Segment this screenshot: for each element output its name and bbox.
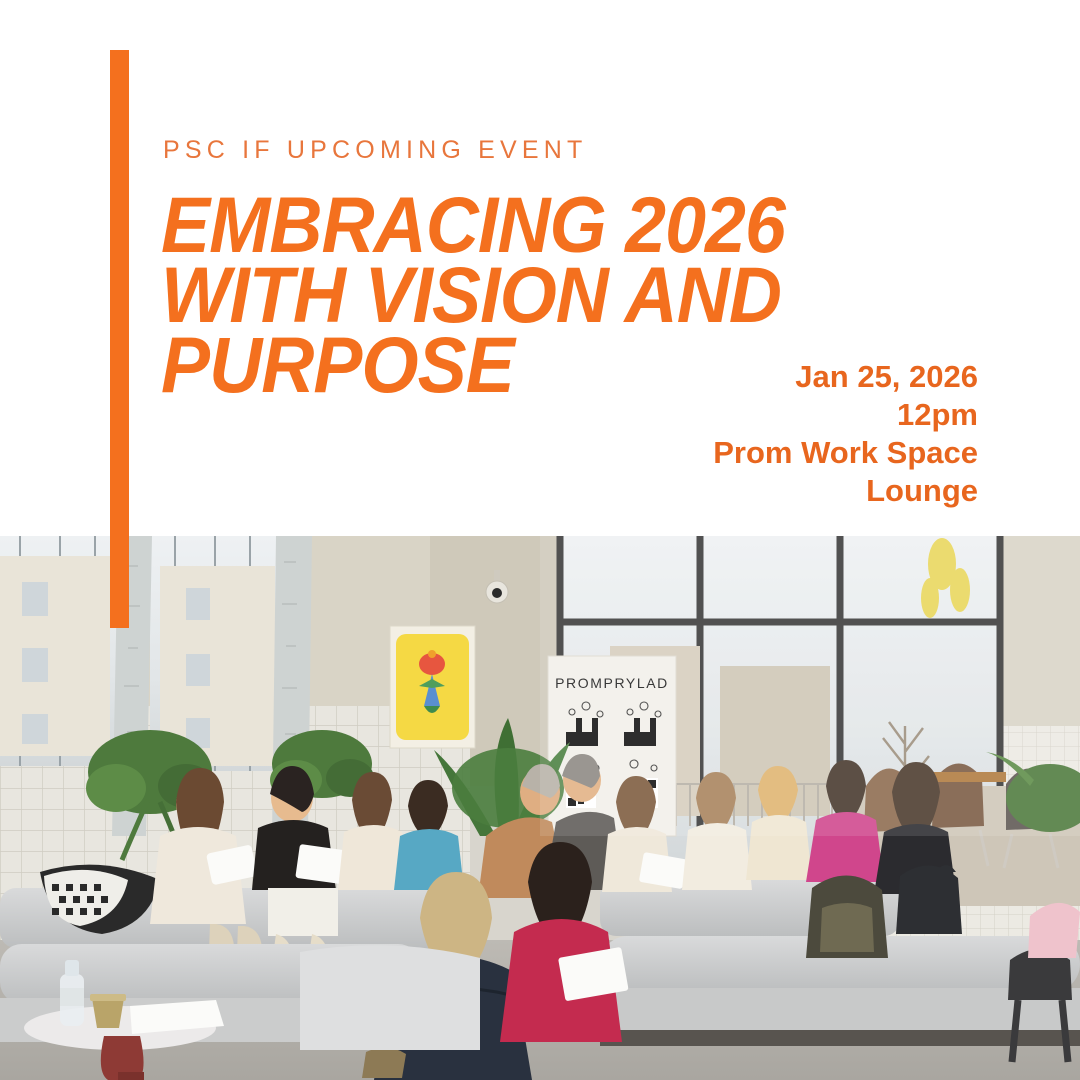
event-details: Jan 25, 2026 12pm Prom Work Space Lounge (558, 358, 978, 510)
lounge-scene-illustration: PROMPRYLAD (0, 536, 1080, 1080)
event-venue: Prom Work Space (558, 434, 978, 472)
event-photo: PROMPRYLAD (0, 536, 1080, 1080)
text-panel: PSC IF UPCOMING EVENT EMBRACING 2026 WIT… (0, 0, 1080, 536)
event-room: Lounge (558, 472, 978, 510)
event-time: 12pm (558, 396, 978, 434)
event-date: Jan 25, 2026 (558, 358, 978, 396)
orange-accent-bar (110, 50, 129, 628)
event-poster: PSC IF UPCOMING EVENT EMBRACING 2026 WIT… (0, 0, 1080, 1080)
eyebrow-label: PSC IF UPCOMING EVENT (163, 138, 588, 163)
